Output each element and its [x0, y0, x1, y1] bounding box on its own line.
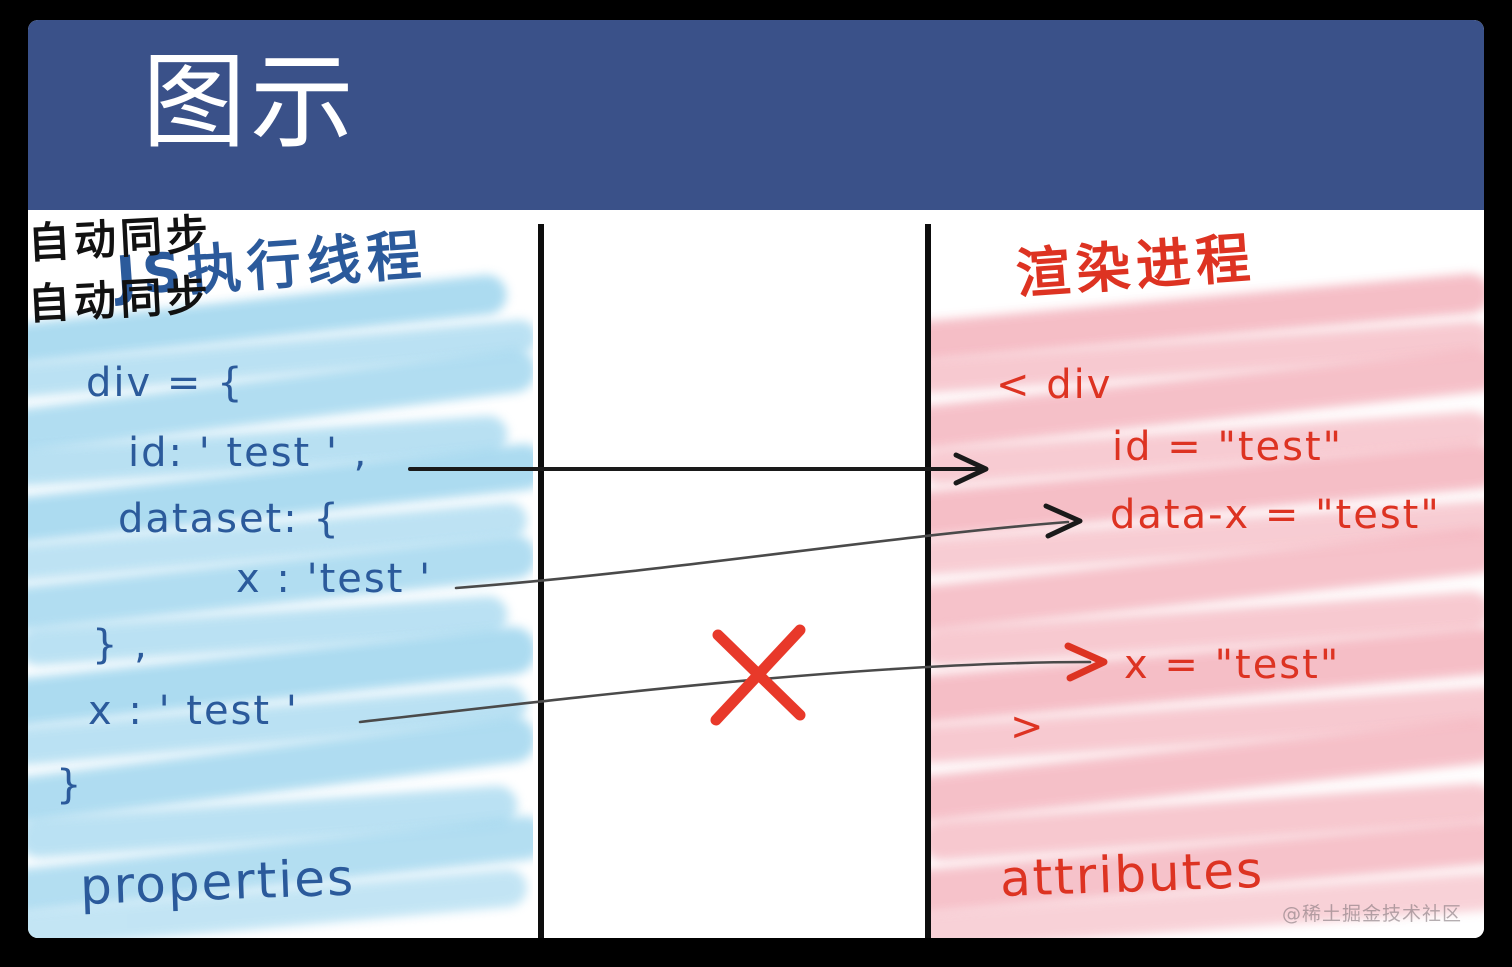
red-x-icon: [716, 630, 800, 720]
slide-canvas: 图示: [28, 20, 1484, 938]
left-footer-label: properties: [79, 848, 356, 916]
connector-arrow-1: [410, 455, 986, 483]
right-code-line-2: data-x = "test": [1110, 492, 1441, 538]
left-code-line-5: x : ' test ': [88, 688, 299, 734]
page-title: 图示: [142, 28, 358, 178]
connector-arrow-3-blocked: [360, 646, 1104, 722]
right-code-line-3: x = "test": [1124, 642, 1340, 688]
column-divider-right: [925, 224, 931, 938]
connector-arrow-2: [456, 506, 1080, 588]
right-code-line-4: >: [1010, 704, 1046, 750]
right-footer-label: attributes: [999, 841, 1265, 908]
right-code-line-1: id = "test": [1112, 424, 1343, 470]
left-code-line-3: x : 'test ': [236, 556, 432, 602]
column-divider-left: [538, 224, 544, 938]
left-code-line-0: div = {: [86, 360, 245, 406]
right-highlighter-strokes: [931, 250, 1484, 938]
right-code-line-0: < div: [996, 362, 1112, 408]
left-code-line-2: dataset: {: [118, 496, 341, 542]
diagram-body: JS执行线程 div = { id: ' test ' , dataset: {…: [28, 210, 1484, 938]
left-code-line-6: }: [56, 762, 83, 808]
watermark: @稀土掘金技术社区: [1282, 899, 1462, 926]
left-code-line-1: id: ' test ' ,: [128, 430, 368, 476]
left-code-line-4: } ,: [92, 622, 149, 668]
